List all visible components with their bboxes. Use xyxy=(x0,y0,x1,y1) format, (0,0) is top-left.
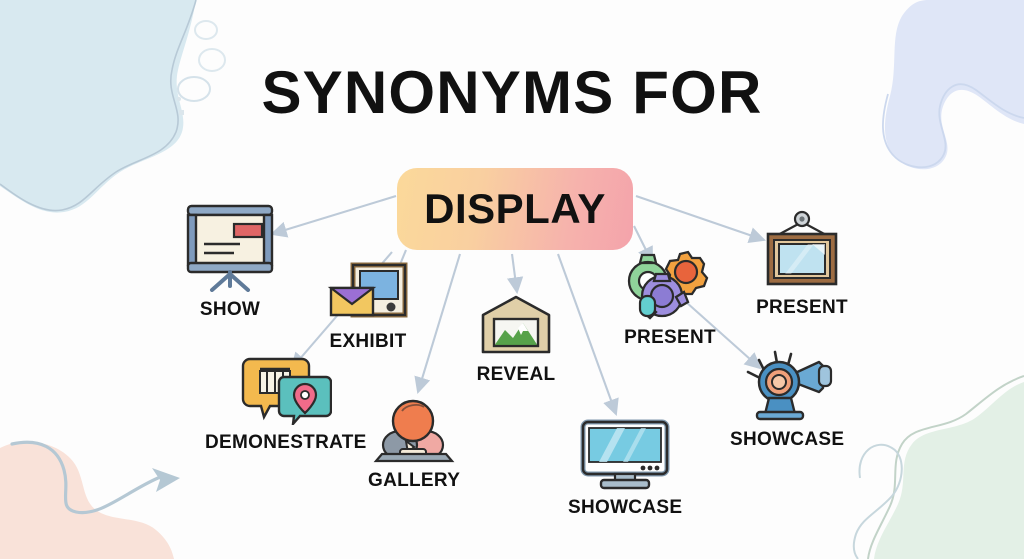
node-label-gallery: GALLERY xyxy=(368,470,460,492)
blob-bottom-left xyxy=(0,442,174,559)
node-label-present-frame: PRESENT xyxy=(756,297,848,319)
node-label-reveal: REVEAL xyxy=(477,364,556,386)
node-showcase-monitor[interactable]: SHOWCASE xyxy=(568,418,682,519)
megaphone-siren-icon xyxy=(735,348,839,422)
node-label-showcase-monitor: SHOWCASE xyxy=(568,497,682,519)
node-label-showcase-megaphone: SHOWCASE xyxy=(730,429,844,451)
node-demonestrate[interactable]: DEMONESTRATE xyxy=(205,355,367,454)
node-label-present-gears: PRESENT xyxy=(624,327,716,349)
center-badge-label: DISPLAY xyxy=(424,185,606,233)
blob-bottom-right xyxy=(874,382,1024,559)
node-label-show: SHOW xyxy=(200,299,260,321)
page-title: SYNONYMS FOR xyxy=(0,58,1024,127)
landscape-frame-icon xyxy=(470,295,562,357)
node-label-demonestrate: DEMONESTRATE xyxy=(205,432,367,454)
bubble-decor-1 xyxy=(195,21,217,39)
node-present-frame[interactable]: PRESENT xyxy=(752,210,852,319)
presentation-board-icon xyxy=(178,200,282,292)
node-showcase-megaphone[interactable]: SHOWCASE xyxy=(730,348,844,451)
sculpture-figure-icon xyxy=(370,395,458,463)
framed-picture-envelope-icon xyxy=(325,262,411,324)
node-present-gears[interactable]: PRESENT xyxy=(618,250,722,349)
node-gallery[interactable]: GALLERY xyxy=(368,395,460,492)
infographic-canvas: SYNONYMS FOR DISPLAY SHOW xyxy=(0,0,1024,559)
hanging-frame-icon xyxy=(752,210,852,290)
center-badge-display[interactable]: DISPLAY xyxy=(397,168,633,250)
node-label-exhibit: EXHIBIT xyxy=(329,331,406,353)
node-reveal[interactable]: REVEAL xyxy=(470,295,562,386)
monitor-icon xyxy=(577,418,673,490)
speech-bubbles-icon xyxy=(240,355,332,425)
node-show[interactable]: SHOW xyxy=(178,200,282,321)
gears-icon xyxy=(618,250,722,320)
node-exhibit[interactable]: EXHIBIT xyxy=(325,262,411,353)
